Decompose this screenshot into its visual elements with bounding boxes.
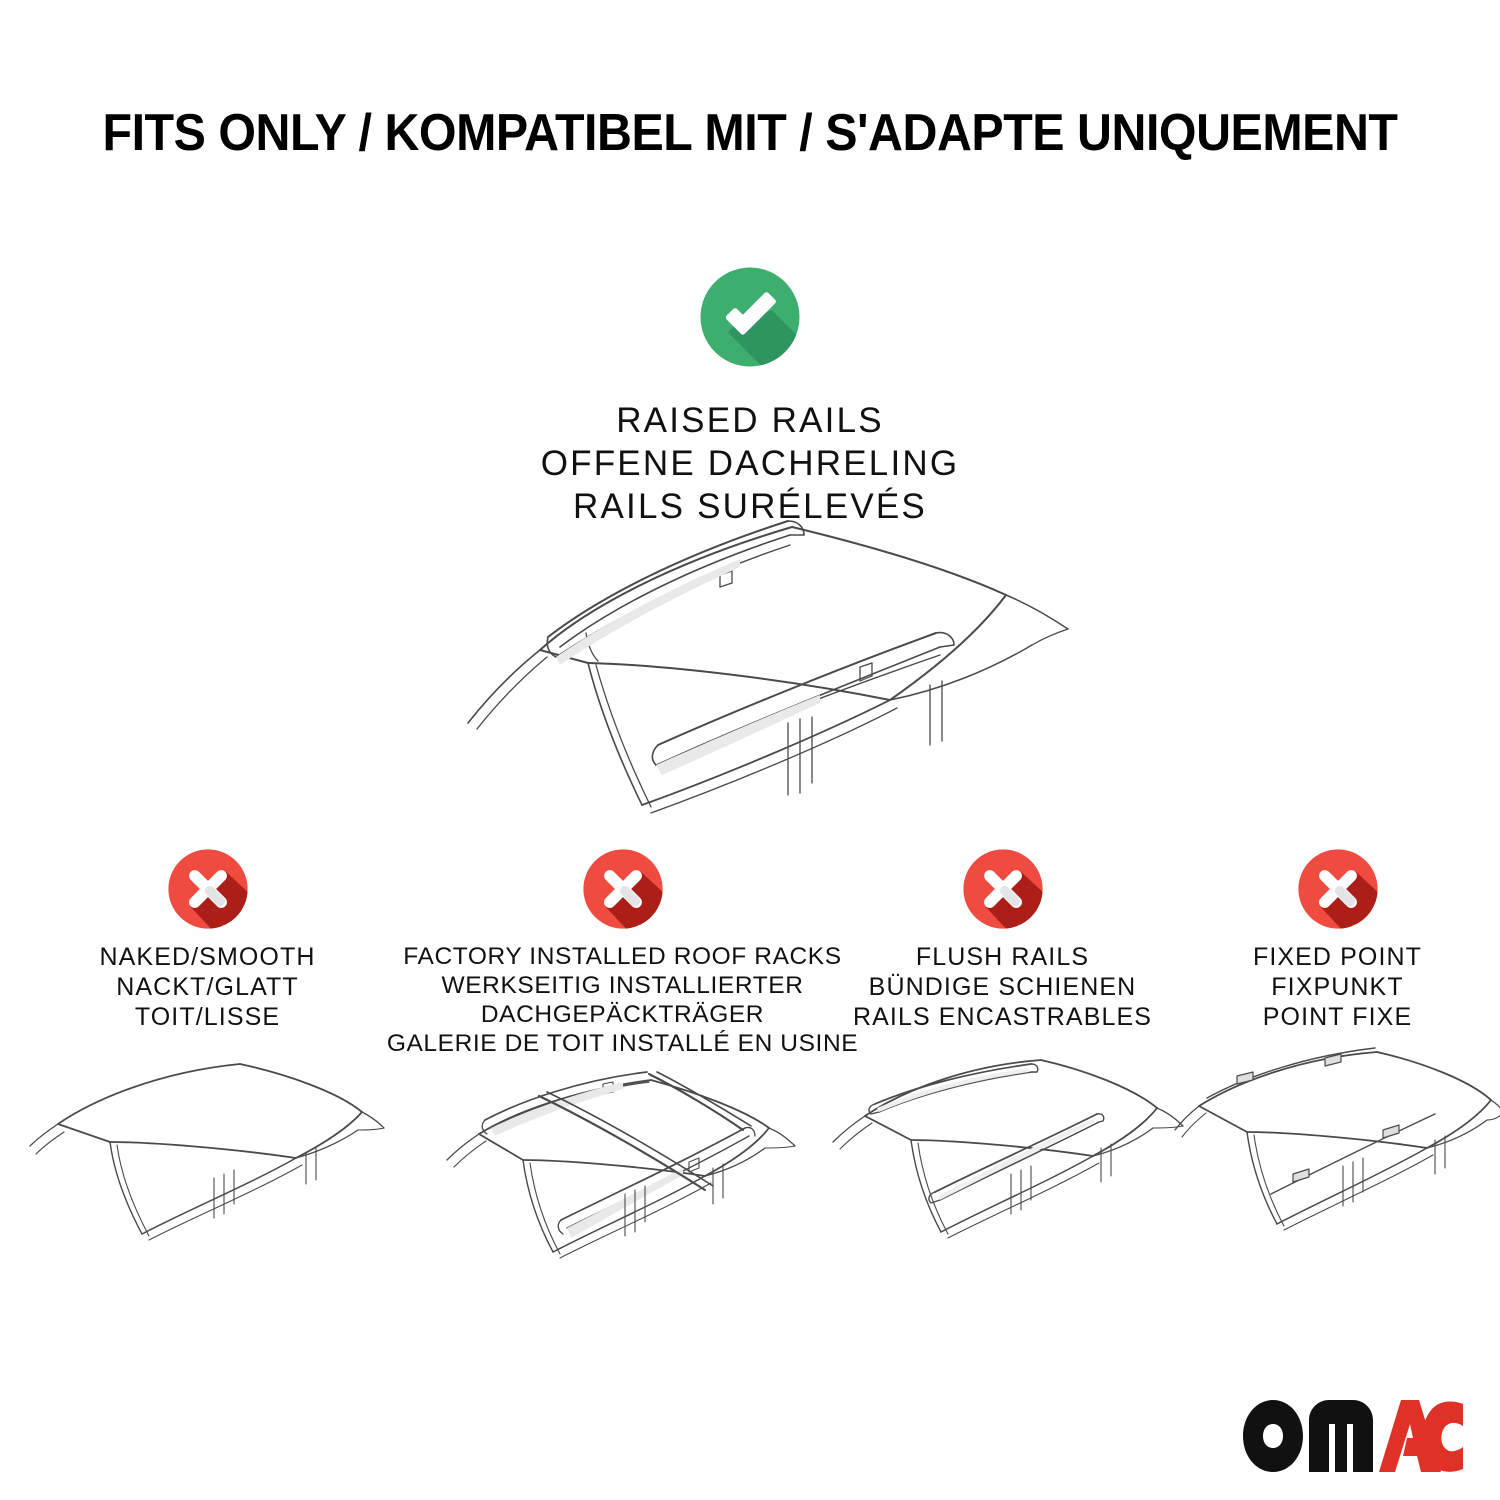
label-line-3: TOIT/LISSE (100, 1002, 316, 1032)
logo-letter-m (1309, 1400, 1373, 1472)
car-roof-flush-rails-illustration-wrap (813, 1042, 1193, 1287)
check-circle-icon-wrap (695, 262, 805, 372)
incompatible-label: FIXED POINT FIXPUNKT POINT FIXE (1253, 942, 1422, 1032)
incompatible-item-flush-rails: FLUSH RAILS BÜNDIGE SCHIENEN RAILS ENCAS… (830, 845, 1175, 1287)
compatible-label-line-1: RAISED RAILS (0, 399, 1500, 442)
label-line-2: WERKSEITIG INSTALLIERTER (387, 971, 858, 1000)
label-line-3: DACHGEPÄCKTRÄGER (387, 1000, 858, 1029)
compatible-label-line-2: OFFENE DACHRELING (0, 442, 1500, 485)
header: FITS ONLY / KOMPATIBEL MIT / S'ADAPTE UN… (0, 103, 1500, 163)
compatible-section: RAISED RAILS OFFENE DACHRELING RAILS SUR… (0, 262, 1500, 528)
incompatible-label: FLUSH RAILS BÜNDIGE SCHIENEN RAILS ENCAS… (853, 942, 1152, 1032)
omac-logo (1243, 1400, 1463, 1480)
car-roof-naked-smooth-illustration (18, 1042, 398, 1282)
incompatible-item-naked-smooth: NAKED/SMOOTH NACKT/GLATT TOIT/LISSE (0, 845, 415, 1287)
label-line-2: FIXPUNKT (1253, 972, 1422, 1002)
omac-logo-mark (1243, 1400, 1463, 1472)
incompatible-item-fixed-point: FIXED POINT FIXPUNKT POINT FIXE (1175, 845, 1500, 1287)
label-line-1: NAKED/SMOOTH (100, 942, 316, 972)
car-roof-raised-rails-illustration (420, 505, 1080, 835)
cross-circle-icon (164, 845, 252, 933)
incompatible-label: FACTORY INSTALLED ROOF RACKS WERKSEITIG … (387, 942, 858, 1058)
label-line-3: RAILS ENCASTRABLES (853, 1002, 1152, 1032)
car-roof-naked-smooth-illustration-wrap (18, 1042, 398, 1287)
label-line-1: FIXED POINT (1253, 942, 1422, 972)
label-line-1: FLUSH RAILS (853, 942, 1152, 972)
label-line-2: BÜNDIGE SCHIENEN (853, 972, 1152, 1002)
label-line-4: GALERIE DE TOIT INSTALLÉ EN USINE (387, 1029, 858, 1058)
car-roof-flush-rails-illustration (813, 1042, 1193, 1282)
compatible-illustration-wrap (0, 505, 1500, 840)
car-roof-fixed-point-illustration (1173, 1042, 1500, 1282)
incompatible-label: NAKED/SMOOTH NACKT/GLATT TOIT/LISSE (100, 942, 316, 1032)
car-roof-factory-roof-racks-illustration (433, 1068, 813, 1308)
incompatible-section: NAKED/SMOOTH NACKT/GLATT TOIT/LISSE (0, 845, 1500, 1313)
incompatible-item-factory-roof-racks: FACTORY INSTALLED ROOF RACKS WERKSEITIG … (415, 845, 830, 1313)
cross-circle-icon (579, 845, 667, 933)
car-roof-fixed-point-illustration-wrap (1173, 1042, 1500, 1287)
cross-circle-icon (959, 845, 1047, 933)
label-line-1: FACTORY INSTALLED ROOF RACKS (387, 942, 858, 971)
fitment-infographic: FITS ONLY / KOMPATIBEL MIT / S'ADAPTE UN… (0, 0, 1500, 1500)
cross-circle-icon (1294, 845, 1382, 933)
label-line-3: POINT FIXE (1253, 1002, 1422, 1032)
logo-letter-o (1243, 1400, 1303, 1472)
check-circle-icon (695, 262, 805, 372)
page-title: FITS ONLY / KOMPATIBEL MIT / S'ADAPTE UN… (53, 103, 1448, 163)
label-line-2: NACKT/GLATT (100, 972, 316, 1002)
car-roof-factory-roof-racks-illustration-wrap (433, 1068, 813, 1313)
